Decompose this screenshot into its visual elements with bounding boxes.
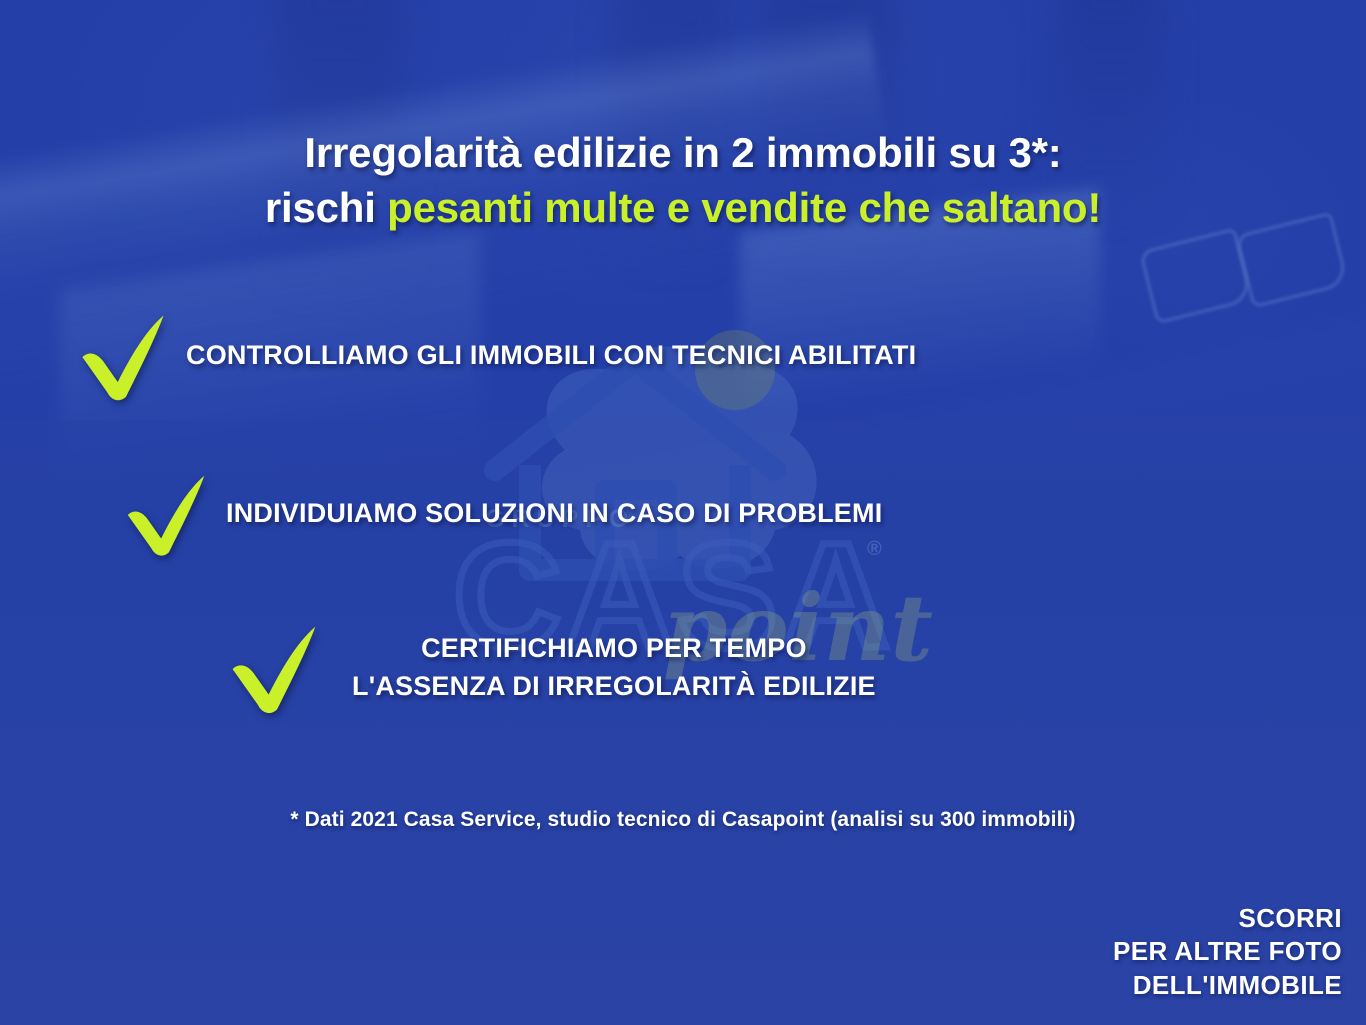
headline-line-1: Irregolarità edilizie in 2 immobili su 3… [0,126,1366,181]
swipe-cta-line-2: PER ALTRE FOTO [1113,935,1342,969]
headline-line-2-prefix: rischi [265,184,387,231]
claims-list: CONTROLLIAMO GLI IMMOBILI CON TECNICI AB… [0,300,1366,722]
footnote: * Dati 2021 Casa Service, studio tecnico… [0,808,1366,832]
claim-text: INDIVIDUIAMO SOLUZIONI IN CASO DI PROBLE… [226,494,882,532]
check-mark-icon [222,614,328,720]
check-mark-icon [118,464,216,562]
list-item: INDIVIDUIAMO SOLUZIONI IN CASO DI PROBLE… [0,458,1366,568]
claim-text: CERTIFICHIAMO PER TEMPO L'ASSENZA DI IRR… [338,629,876,706]
headline-line-2-accent: pesanti multe e vendite che saltano! [387,184,1101,231]
check-mark-icon [72,303,176,407]
list-item: CERTIFICHIAMO PER TEMPO L'ASSENZA DI IRR… [0,612,1366,722]
list-item: CONTROLLIAMO GLI IMMOBILI CON TECNICI AB… [0,300,1366,410]
poster-content: Irregolarità edilizie in 2 immobili su 3… [0,0,1366,1025]
swipe-cta-line-3: DELL'IMMOBILE [1113,969,1342,1003]
swipe-call-to-action: SCORRI PER ALTRE FOTO DELL'IMMOBILE [1113,902,1342,1003]
check-mark-shape [233,627,316,713]
swipe-cta-line-1: SCORRI [1113,902,1342,936]
headline-line-2: rischi pesanti multe e vendite che salta… [0,181,1366,236]
check-mark-shape [128,476,204,556]
claim-text: CONTROLLIAMO GLI IMMOBILI CON TECNICI AB… [186,336,916,374]
promo-poster: GRUPPO CASA ® point Irregolarità edilizi… [0,0,1366,1025]
check-mark-shape [82,315,163,400]
page-title: Irregolarità edilizie in 2 immobili su 3… [0,126,1366,235]
